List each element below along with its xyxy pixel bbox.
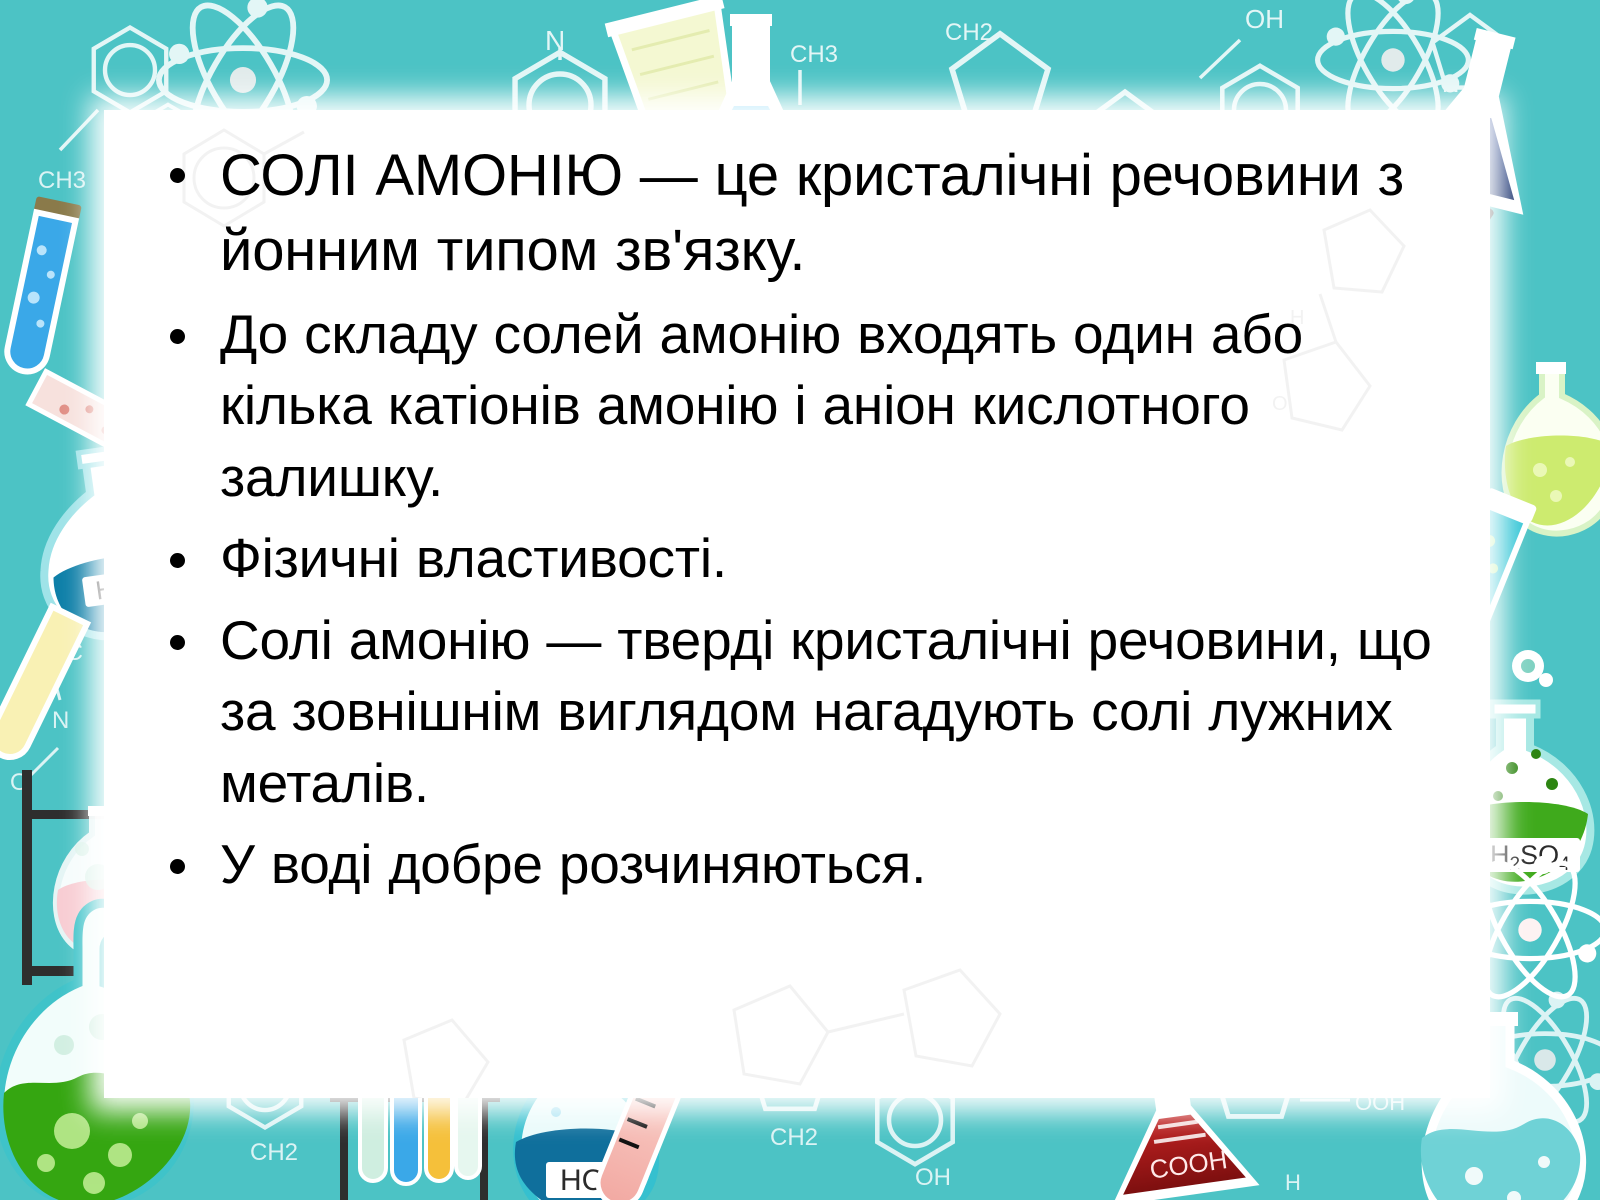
label-n-left: N — [52, 707, 69, 734]
label-n-topcenter: N — [545, 25, 565, 56]
bullet-item-5: У воді добре розчиняються. — [134, 829, 1460, 901]
slide-content: СОЛІ АМОНІЮ — це кристалічні речовини з … — [104, 110, 1490, 1098]
label-ch3-topleft: CH3 — [38, 167, 86, 194]
bullet-text-1: СОЛІ АМОНІЮ — це кристалічні речовини з … — [220, 143, 1404, 283]
bullet-list: СОЛІ АМОНІЮ — це кристалічні речовини з … — [134, 138, 1460, 901]
label-oh-topright: OH — [1245, 4, 1284, 34]
bullet-item-2: До складу солей амонію входять один або … — [134, 299, 1460, 514]
label-ch2-bottomleft: CH2 — [250, 1139, 298, 1166]
test-tube-icon-left-yellow — [0, 607, 87, 764]
label-ch3-topleft-2: CH3 — [790, 41, 838, 68]
label-n-right: N — [1442, 71, 1459, 98]
label-h2so4-right: H2SO4 — [1490, 840, 1570, 875]
bullet-text-5: У воді добре розчиняються. — [220, 833, 926, 895]
bullet-text-3: Фізичні властивості. — [220, 527, 727, 589]
label-h-bottom: H — [1285, 1170, 1301, 1195]
test-tube-icon-left-blue — [1, 196, 82, 376]
bullet-item-1: СОЛІ АМОНІЮ — це кристалічні речовини з … — [134, 138, 1460, 289]
bubble-icon-right — [1512, 650, 1553, 687]
bullet-item-3: Фізичні властивості. — [134, 523, 1460, 595]
bullet-text-2: До складу солей амонію входять один або … — [220, 303, 1303, 508]
slide-root: N N CH2 OH N CH3 N — [0, 0, 1600, 1200]
bullet-text-4: Солі амонію — тверді кристалічні речовин… — [220, 609, 1432, 814]
label-oh-bottom: OH — [915, 1164, 951, 1191]
bullet-item-4: Солі амонію — тверді кристалічні речовин… — [134, 605, 1460, 820]
label-ch2-bottom: CH2 — [770, 1124, 818, 1151]
label-ch2-topright: CH2 — [945, 19, 993, 46]
